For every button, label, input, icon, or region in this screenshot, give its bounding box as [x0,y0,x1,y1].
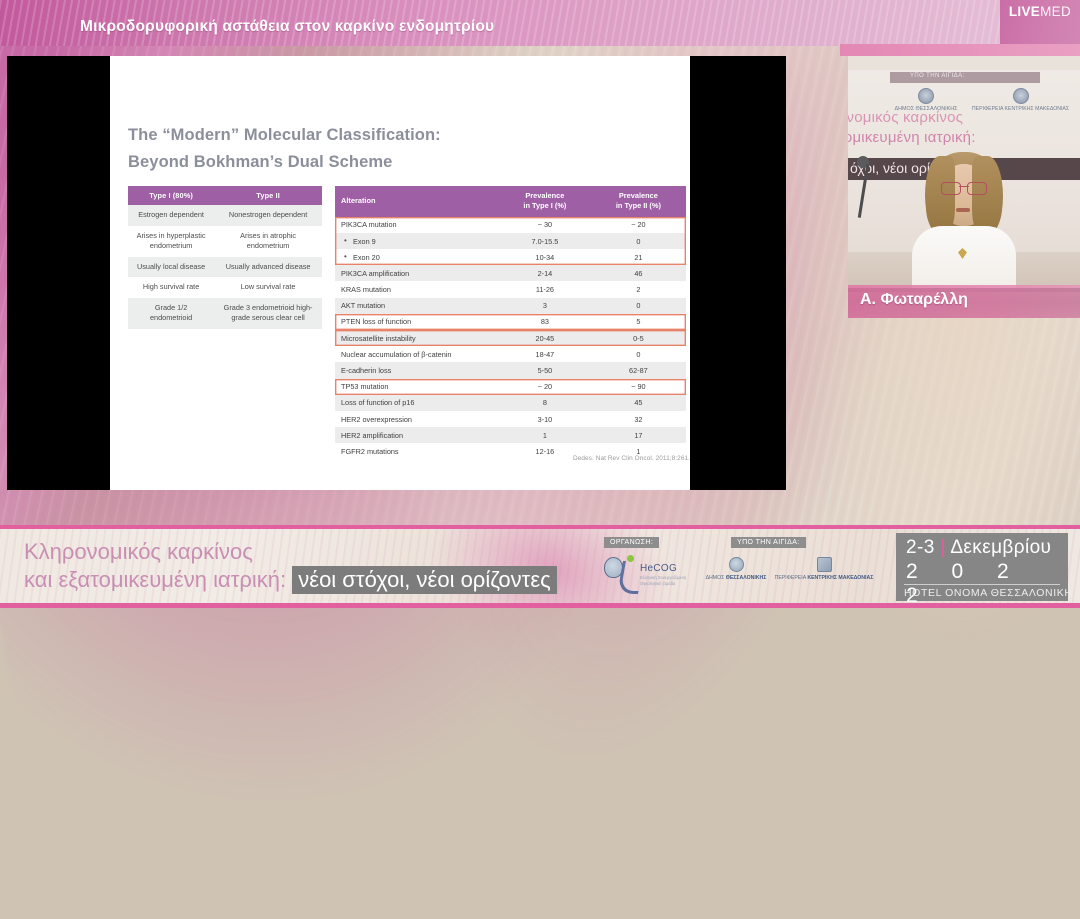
speaker-mouth [956,208,970,212]
table-row: TP53 mutation~ 20~ 90 [335,379,686,395]
slide-canvas: The “Modern” Molecular Classification: B… [110,56,690,490]
aegis-label: ΥΠΟ ΤΗΝ ΑΙΓΙΔΑ: [731,537,806,548]
congress-title-line2-highlight: νέοι στόχοι, νέοι ορίζοντες [292,566,557,594]
cell-prevalence-type-i: 3-10 [499,411,591,427]
cell-alteration: Exon 20 [335,249,499,265]
table-row: Arises in hyperplastic endometriumArises… [128,226,322,257]
cell-alteration: TP53 mutation [335,379,499,395]
speaker-camera-feed[interactable]: ονομικός καρκίνος τομικευμένη ιατρική: ό… [848,56,1080,318]
cell-prevalence-type-ii: 5 [591,314,686,330]
backdrop-logo-macedonia: ΠΕΡΙΦΕΡΕΙΑ ΚΕΝΤΡΙΚΗΣ ΜΑΚΕΔΟΝΙΑΣ [968,88,1073,112]
col-alteration: Alteration [335,186,499,217]
cell-prevalence-type-ii: ~ 90 [591,379,686,395]
cell-type-i: High survival rate [128,277,214,298]
table-row: Exon 97.0-15.50 [335,233,686,249]
cell-type-i: Grade 1/2 endometrioid [128,298,214,329]
backdrop-aegis-label: ΥΠΟ ΤΗΝ ΑΙΓΙΔΑ: [910,73,965,79]
cell-prevalence-type-i: 11-26 [499,281,591,297]
cell-prevalence-type-i: ~ 30 [499,217,591,233]
alteration-table-body: PIK3CA mutation~ 30~ 20Exon 97.0-15.50Ex… [335,217,686,460]
cell-type-i: Usually local disease [128,257,214,278]
aegis2-prefix: ΠΕΡΙΦΕΡΕΙΑ [775,575,806,581]
event-venue: HOTEL ΟΝΟΜΑ ΘΕΣΣΑΛΟΝΙΚΗ [904,587,1073,599]
cell-alteration: Microsatellite instability [335,330,499,346]
congress-title-line2: και εξατομικευμένη ιατρική: νέοι στόχοι,… [24,566,557,594]
cell-prevalence-type-i: 7.0-15.5 [499,233,591,249]
macedonia-crest-icon [817,557,832,572]
table-row: E-cadherin loss5-5062-87 [335,362,686,378]
table-row: HER2 amplification117 [335,427,686,443]
cell-alteration: Nuclear accumulation of β-catenin [335,346,499,362]
cell-type-ii: Nonestrogen dependent [214,205,322,226]
cell-prevalence-type-i: 8 [499,395,591,411]
cell-prevalence-type-ii: 0 [591,233,686,249]
presentation-title: Μικροδορυφορική αστάθεια στον καρκίνο εν… [80,18,494,36]
cell-prevalence-type-ii: 45 [591,395,686,411]
cell-alteration: HER2 amplification [335,427,499,443]
backdrop-logo-left-label: ΔΗΜΟΣ ΘΕΣΣΑΛΟΝΙΚΗΣ [895,106,958,112]
type-table-body: Estrogen dependentNonestrogen dependentA… [128,205,322,329]
slide-video-area[interactable]: The “Modern” Molecular Classification: B… [7,56,786,490]
cell-prevalence-type-ii: 2 [591,281,686,297]
alteration-prevalence-table: Alteration Prevalencein Type I (%) Preva… [335,186,686,460]
cell-prevalence-type-ii: 0 [591,298,686,314]
cell-prevalence-type-i: 10-34 [499,249,591,265]
cell-prevalence-type-i: 5-50 [499,362,591,378]
speaker-hair-right [972,156,1003,236]
cell-prevalence-type-ii: 17 [591,427,686,443]
cell-prevalence-type-i: 2-14 [499,265,591,281]
date-separator-icon: | [940,537,945,558]
slide-title-line1: The “Modern” Molecular Classification: [128,122,668,149]
aegis-logo-macedonia: ΠΕΡΙΦΕΡΕΙΑ ΚΕΝΤΡΙΚΗΣ ΜΑΚΕΔΟΝΙΑΣ [760,557,888,581]
cell-prevalence-type-ii: 62-87 [591,362,686,378]
bullet-item: Exon 9 [341,237,493,246]
cell-type-ii: Arises in atrophic endometrium [214,226,322,257]
congress-title: Κληρονομικός καρκίνος και εξατομικευμένη… [24,538,557,594]
city-seal-icon [918,88,934,104]
livemed-logo: LIVEMED [1009,4,1071,19]
cell-prevalence-type-ii: 32 [591,411,686,427]
cell-alteration: E-cadherin loss [335,362,499,378]
cell-type-ii: Usually advanced disease [214,257,322,278]
table-row: PIK3CA amplification2-1446 [335,265,686,281]
cell-alteration: Exon 9 [335,233,499,249]
aegis2-name: ΚΕΝΤΡΙΚΗΣ ΜΑΚΕΔΟΝΙΑΣ [807,575,873,581]
camera-frame-top [840,44,1080,56]
table-row: PIK3CA mutation~ 30~ 20 [335,217,686,233]
event-date-month: Δεκεμβρίου [950,537,1051,558]
table-row: Exon 2010-3421 [335,249,686,265]
aegis1-prefix: ΔΗΜΟΣ [706,575,725,581]
cell-type-ii: Grade 3 endometrioid high-grade serous c… [214,298,322,329]
cell-prevalence-type-ii: ~ 20 [591,217,686,233]
organizer-label: ΟΡΓΑΝΩΣΗ: [604,537,659,548]
cell-prevalence-type-i: 20-45 [499,330,591,346]
date-divider [904,584,1060,585]
col-prevalence-type-ii: Prevalencein Type II (%) [591,186,686,217]
table-row: Grade 1/2 endometrioidGrade 3 endometrio… [128,298,322,329]
cell-prevalence-type-i: 18-47 [499,346,591,362]
backdrop-text-line2: τομικευμένη ιατρική: [848,128,1080,148]
footer-top-rule [0,525,1080,529]
speaker-hair-left [925,156,955,234]
table-row: KRAS mutation11-262 [335,281,686,297]
cell-prevalence-type-i: 3 [499,298,591,314]
slide-citation: Dedes. Nat Rev Clin Oncol. 2011;8:261. [440,455,690,462]
table-row: High survival rateLow survival rate [128,277,322,298]
backdrop-logo-right-label: ΠΕΡΙΦΕΡΕΙΑ ΚΕΝΤΡΙΚΗΣ ΜΑΚΕΔΟΝΙΑΣ [972,106,1069,112]
cell-prevalence-type-i: 83 [499,314,591,330]
hecog-name: HeCOG [640,563,677,574]
cell-alteration: PIK3CA mutation [335,217,499,233]
cell-alteration: AKT mutation [335,298,499,314]
slide-title: The “Modern” Molecular Classification: B… [128,122,668,175]
event-date-line: 2-3 | Δεκεμβρίου [906,537,1051,559]
table-row: Usually local diseaseUsually advanced di… [128,257,322,278]
cell-prevalence-type-i: 1 [499,427,591,443]
backdrop-aegis-label-bar: ΥΠΟ ΤΗΝ ΑΙΓΙΔΑ: [890,72,1040,83]
cell-prevalence-type-ii: 0-5 [591,330,686,346]
cell-type-ii: Low survival rate [214,277,322,298]
col-prevalence-type-i: Prevalencein Type I (%) [499,186,591,217]
header-bar: Μικροδορυφορική αστάθεια στον καρκίνο εν… [0,0,1080,46]
region-seal-icon [1013,88,1029,104]
cell-alteration: PTEN loss of function [335,314,499,330]
cell-prevalence-type-i: ~ 20 [499,379,591,395]
table-row: Nuclear accumulation of β-catenin18-470 [335,346,686,362]
table-row: Estrogen dependentNonestrogen dependent [128,205,322,226]
broadcast-stage: Μικροδορυφορική αστάθεια στον καρκίνο εν… [0,0,1080,608]
table-row: Loss of function of p16845 [335,395,686,411]
cell-alteration: Loss of function of p16 [335,395,499,411]
cell-prevalence-type-ii: 46 [591,265,686,281]
backdrop-logo-row: ΥΠΟ ΤΗΝ ΑΙΓΙΔΑ: ΔΗΜΟΣ ΘΕΣΣΑΛΟΝΙΚΗΣ ΠΕΡΙΦ… [848,72,1080,118]
livemed-logo-med: MED [1040,4,1071,19]
table-row: PTEN loss of function835 [335,314,686,330]
table-row: AKT mutation30 [335,298,686,314]
speaker-name: Α. Φωταρέλλη [860,291,968,309]
cell-alteration: HER2 overexpression [335,411,499,427]
congress-title-line1: Κληρονομικός καρκίνος [24,538,557,566]
livemed-logo-live: LIVE [1009,4,1040,19]
cell-type-i: Estrogen dependent [128,205,214,226]
type-comparison-table: Type I (80%) Type II Estrogen dependentN… [128,186,322,329]
slide-title-line2: Beyond Bokhman’s Dual Scheme [128,149,668,176]
cell-type-i: Arises in hyperplastic endometrium [128,226,214,257]
event-date-day: 2-3 [906,537,935,558]
cell-alteration: PIK3CA amplification [335,265,499,281]
table-header-row: Alteration Prevalencein Type I (%) Preva… [335,186,686,217]
speaker-glasses-icon [941,182,987,193]
thessaloniki-crest-icon [729,557,744,572]
table-row: Microsatellite instability20-450-5 [335,330,686,346]
bullet-item: Exon 20 [341,253,493,262]
hecog-logo: HeCOG Ελληνική Συνεργαζόμενη Ογκολογική … [600,555,696,599]
cell-prevalence-type-ii: 0 [591,346,686,362]
col-type-ii: Type II [214,186,322,205]
cell-prevalence-type-ii: 21 [591,249,686,265]
congress-title-line2-prefix: και εξατομικευμένη ιατρική: [24,567,286,592]
table-header-row: Type I (80%) Type II [128,186,322,205]
table-row: HER2 overexpression3-1032 [335,411,686,427]
cell-alteration: KRAS mutation [335,281,499,297]
footer-banner: Κληρονομικός καρκίνος και εξατομικευμένη… [0,525,1080,608]
event-date-block: 2-3 | Δεκεμβρίου 2 0 2 2 HOTEL ΟΝΟΜΑ ΘΕΣ… [896,533,1068,601]
speaker-name-banner: Α. Φωταρέλλη [848,285,1080,318]
col-type-i: Type I (80%) [128,186,214,205]
backdrop-logo-thessaloniki: ΔΗΜΟΣ ΘΕΣΣΑΛΟΝΙΚΗΣ [886,88,966,112]
